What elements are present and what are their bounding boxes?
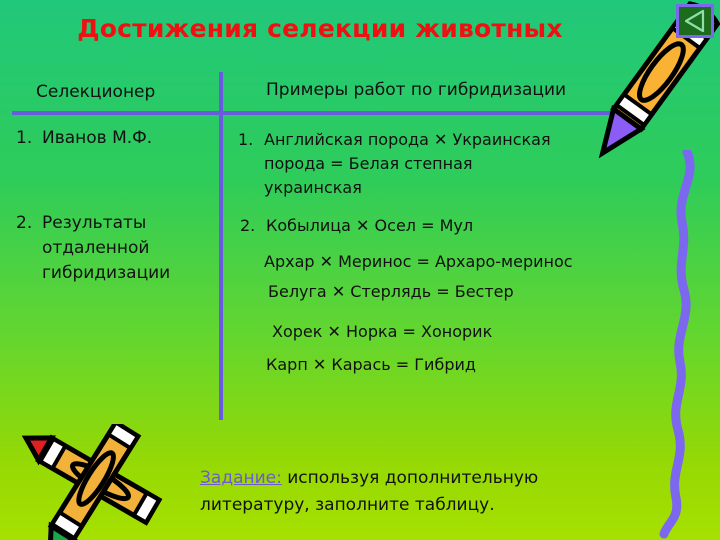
list-item-number: 2.: [16, 211, 32, 236]
list-item-number: 1.: [16, 126, 32, 151]
back-triangle-icon[interactable]: [676, 4, 714, 38]
list-item-text: Кобылица ✕ Осел = Мул: [266, 214, 473, 238]
list-item: 2. Результаты отдаленной гибридизации: [16, 211, 206, 286]
table-column-divider: [219, 72, 223, 420]
list-item-text: Результаты отдаленной гибридизации: [42, 211, 206, 286]
list-item: 1. Английская порода ✕ Украинская порода…: [238, 128, 554, 200]
table-header-divider: [12, 111, 655, 115]
list-item-number: 2.: [240, 214, 255, 238]
list-item: Белуга ✕ Стерлядь = Бестер: [268, 282, 514, 301]
task-instruction: Задание: используя дополнительную литера…: [200, 465, 620, 519]
list-item-text: Английская порода ✕ Украинская порода = …: [264, 128, 554, 200]
list-item: Архар ✕ Меринос = Архаро-меринос: [264, 252, 573, 271]
squiggle-line-icon: [640, 150, 710, 540]
list-item: 2. Кобылица ✕ Осел = Мул: [240, 214, 473, 238]
list-item: Карп ✕ Карась = Гибрид: [266, 355, 476, 374]
column-header-right: Примеры работ по гибридизации: [266, 80, 566, 100]
column-header-left: Селекционер: [36, 82, 155, 102]
task-label: Задание:: [200, 468, 282, 488]
list-item-number: 1.: [238, 128, 253, 152]
list-item: Хорек ✕ Норка = Хонорик: [272, 322, 492, 341]
page-title: Достижения селекции животных: [0, 14, 640, 43]
list-item: 1. Иванов М.Ф.: [16, 126, 206, 151]
list-item-text: Иванов М.Ф.: [42, 126, 206, 151]
crossed-crayons-icon: [8, 424, 193, 540]
slide-canvas: Достижения селекции животных Селекционер…: [0, 0, 720, 540]
